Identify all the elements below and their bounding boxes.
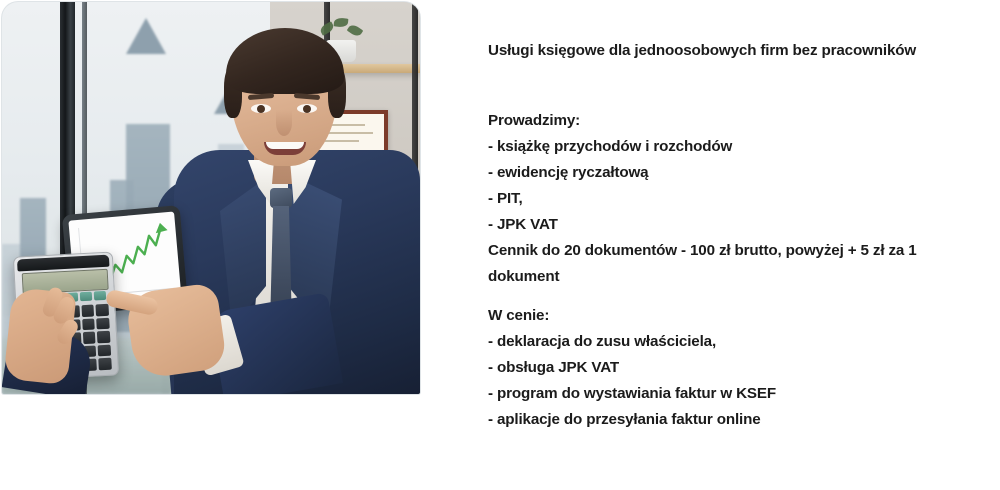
hair bbox=[226, 28, 344, 94]
eye bbox=[297, 104, 317, 113]
section-prowadzimy: Prowadzimy: - książkę przychodów i rozch… bbox=[488, 108, 970, 238]
list-item: - aplikacje do przesyłania faktur online bbox=[488, 407, 970, 433]
section-w-cenie: W cenie: - deklaracja do zusu właściciel… bbox=[488, 303, 970, 433]
smiling-mouth bbox=[264, 142, 306, 155]
photo-stage bbox=[2, 2, 420, 394]
list-item: - deklaracja do zusu właściciela, bbox=[488, 329, 970, 355]
eye bbox=[251, 104, 271, 113]
tie-knot bbox=[270, 188, 292, 208]
offer-page: Usługi księgowe dla jednoosobowych firm … bbox=[0, 0, 1000, 490]
offer-text-content: Usługi księgowe dla jednoosobowych firm … bbox=[488, 0, 988, 490]
list-item: - PIT, bbox=[488, 186, 970, 212]
left-hand-holding-calculator bbox=[3, 287, 76, 385]
nose bbox=[276, 110, 292, 136]
offer-photo bbox=[2, 2, 420, 394]
list-item: - ewidencję ryczałtową bbox=[488, 160, 970, 186]
list-item: - obsługa JPK VAT bbox=[488, 355, 970, 381]
list-item: - książkę przychodów i rozchodów bbox=[488, 134, 970, 160]
pricing-paragraph: Cennik do 20 dokumentów - 100 zł brutto,… bbox=[488, 238, 970, 290]
page-title: Usługi księgowe dla jednoosobowych firm … bbox=[488, 41, 968, 61]
list-item: - program do wystawiania faktur w KSEF bbox=[488, 381, 970, 407]
section-title: W cenie: bbox=[488, 303, 970, 329]
list-item: - JPK VAT bbox=[488, 212, 970, 238]
section-cennik: Cennik do 20 dokumentów - 100 zł brutto,… bbox=[488, 238, 970, 290]
section-title: Prowadzimy: bbox=[488, 108, 970, 134]
